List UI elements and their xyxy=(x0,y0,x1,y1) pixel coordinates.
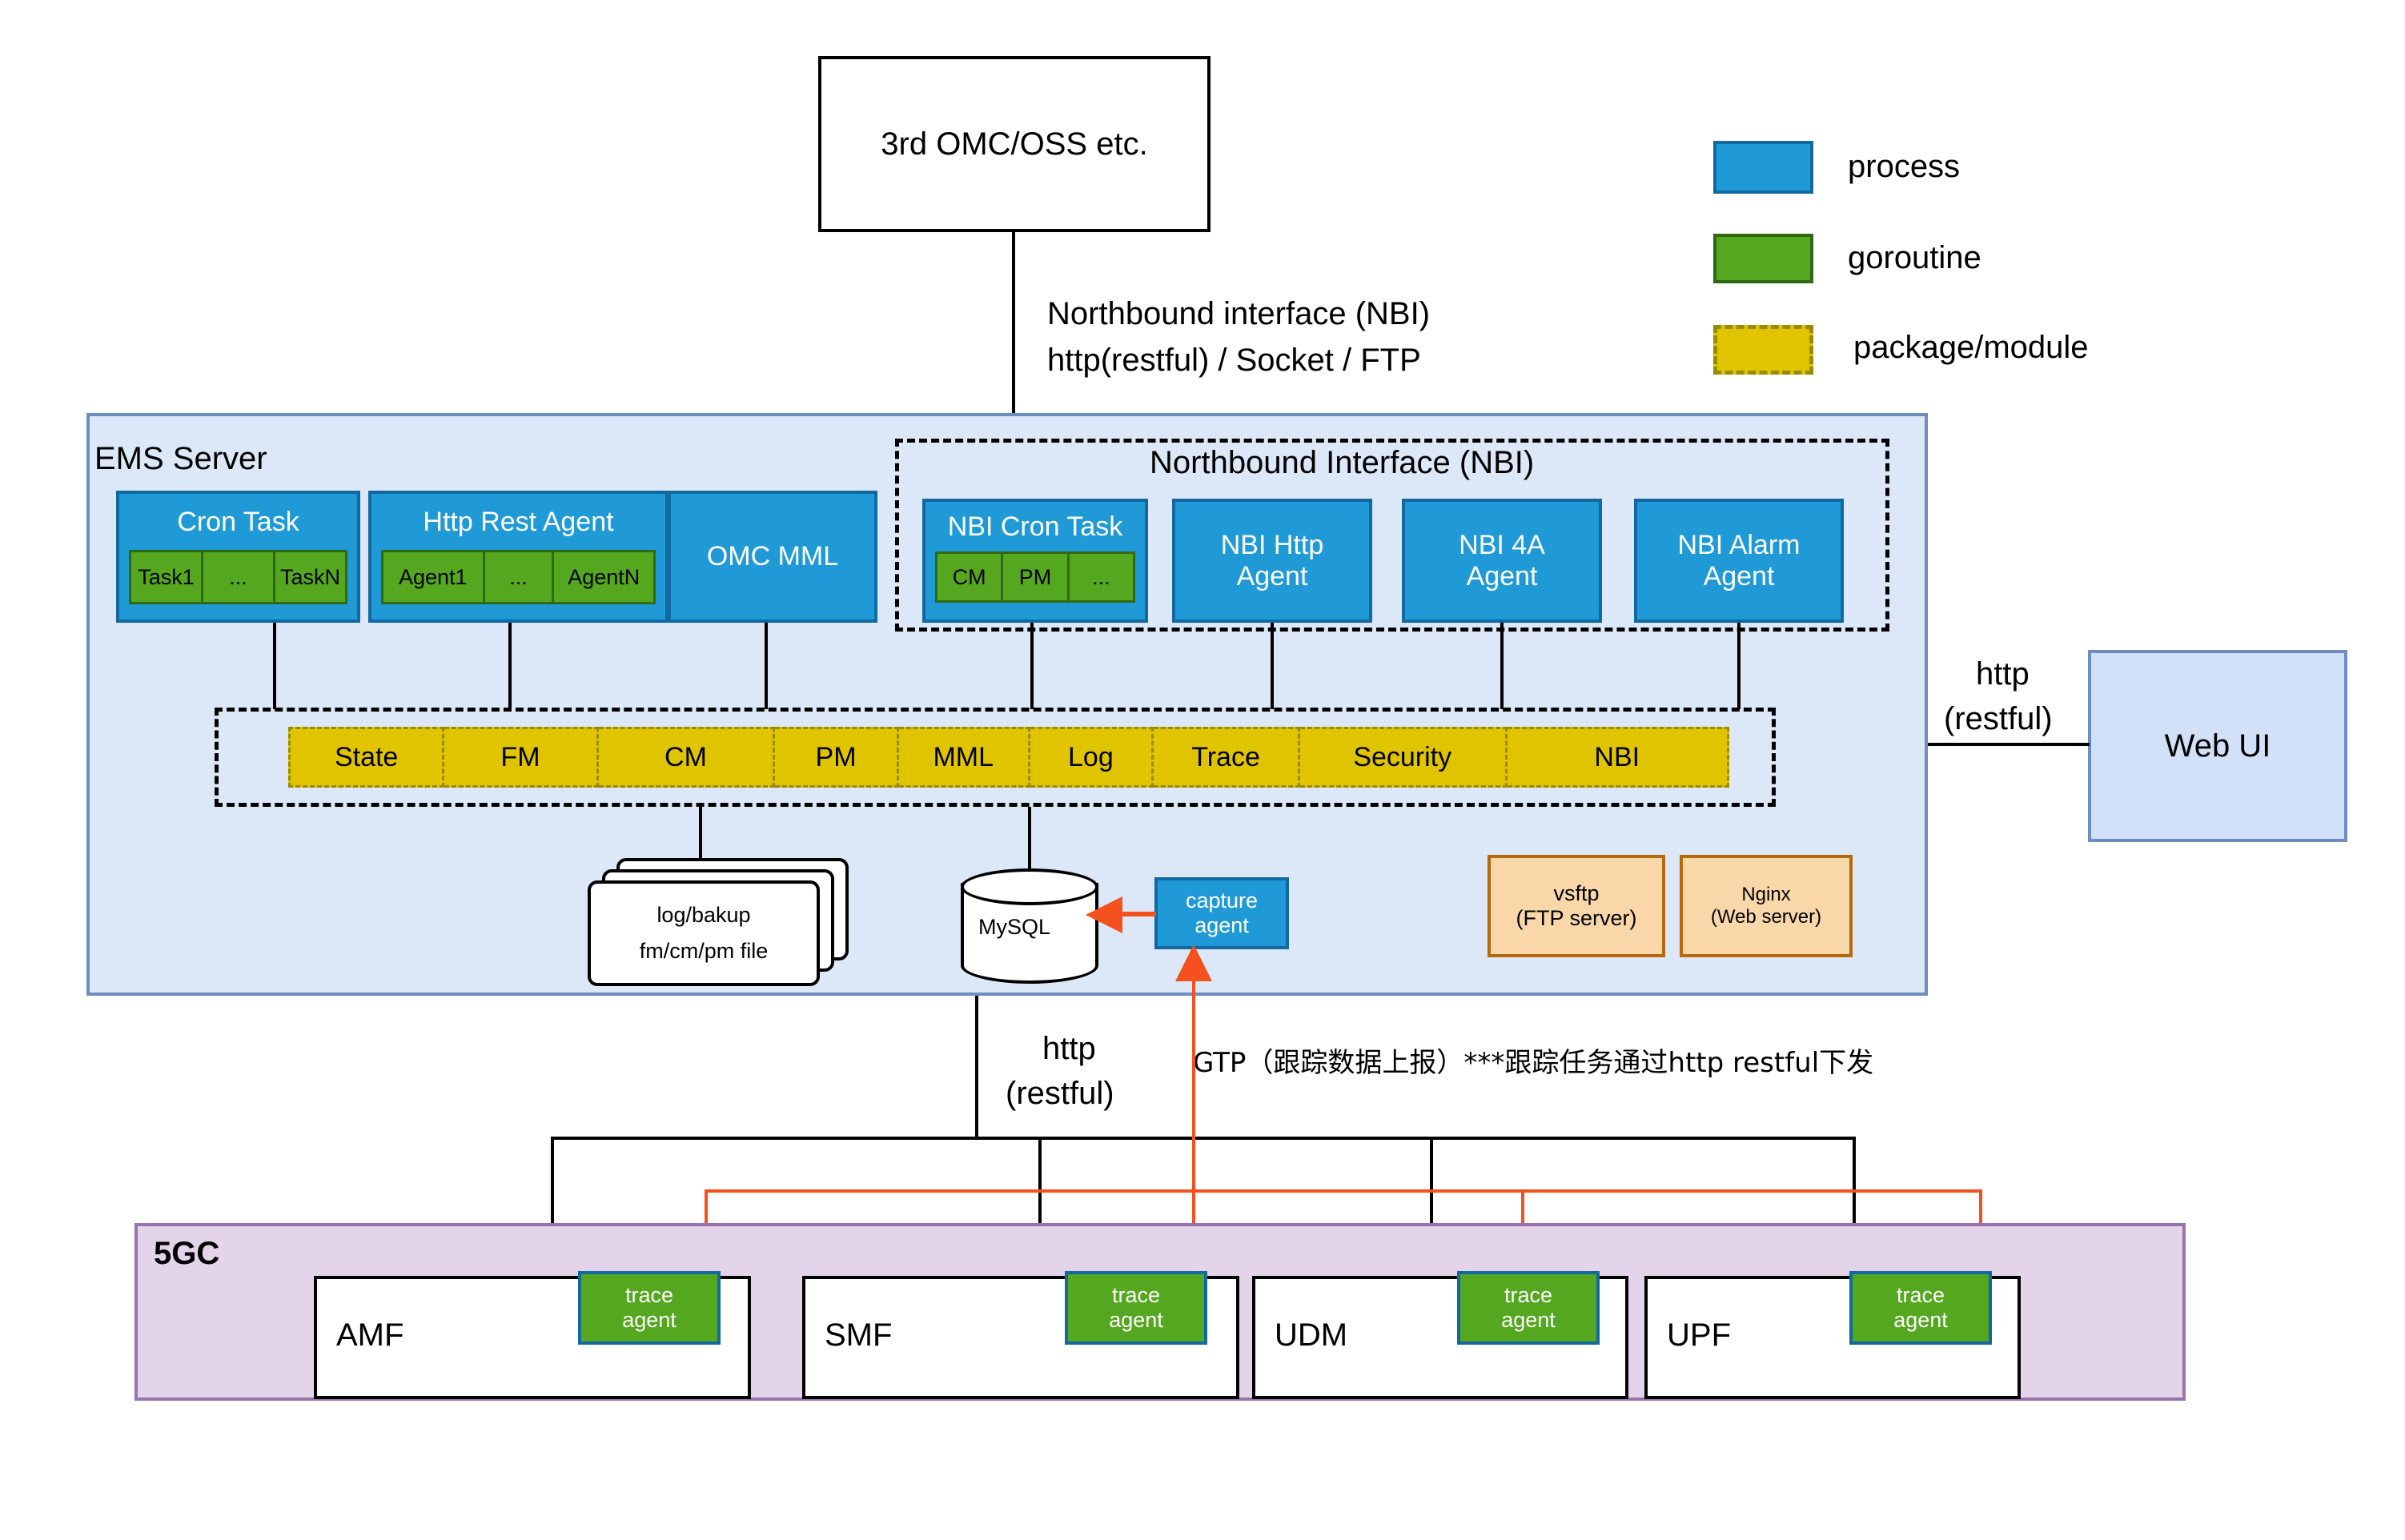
module-fm[interactable]: FM xyxy=(444,727,598,788)
modules-bar: State FM CM PM MML Log Trace Security NB… xyxy=(288,727,1729,788)
legend-label-goroutine: goroutine xyxy=(1848,240,1981,276)
http-rest-agent-to-modules-line xyxy=(508,623,512,709)
module-pm-label: PM xyxy=(816,742,857,773)
process-nbi-4a-agent-label-line1: NBI 4A xyxy=(1459,530,1545,561)
trace-agent-smf-label-line2: agent xyxy=(1109,1308,1163,1333)
goroutine-task-ellipsis[interactable]: ... xyxy=(203,550,275,604)
goroutine-taskn[interactable]: TaskN xyxy=(275,550,347,604)
ems-to-web-ui-line xyxy=(1928,743,2090,746)
process-capture-agent-label-line2: agent xyxy=(1194,913,1249,938)
log-backup-files-label-line2: fm/cm/pm file xyxy=(640,939,769,964)
module-trace[interactable]: Trace xyxy=(1154,727,1300,788)
process-capture-agent-label-line1: capture xyxy=(1186,888,1258,913)
goroutine-nbi-cm[interactable]: CM xyxy=(935,551,1003,603)
module-fm-label: FM xyxy=(500,742,540,773)
module-state[interactable]: State xyxy=(288,727,444,788)
core-node-udm-label: UDM xyxy=(1275,1317,1347,1354)
module-cm-label: CM xyxy=(664,742,707,773)
process-nbi-http-agent[interactable]: NBI Http Agent xyxy=(1172,499,1372,623)
process-omc-mml-label: OMC MML xyxy=(707,541,838,572)
process-nbi-http-agent-label-line1: NBI Http xyxy=(1221,530,1323,561)
trace-bus-horizontal xyxy=(705,1189,1982,1193)
mysql-database-label: MySQL xyxy=(978,915,1050,940)
web-ui-link-label-line1: http xyxy=(1976,656,2030,692)
web-ui-box[interactable]: Web UI xyxy=(2088,650,2347,842)
process-cron-task[interactable]: Cron Task Task1 ... TaskN xyxy=(116,491,360,623)
trace-agent-upf-label-line2: agent xyxy=(1893,1308,1948,1333)
modules-to-files-line xyxy=(699,807,702,860)
trace-agent-upf[interactable]: trace agent xyxy=(1849,1271,1992,1345)
process-capture-agent[interactable]: capture agent xyxy=(1154,877,1289,949)
goroutine-agent1-label: Agent1 xyxy=(399,565,468,590)
goroutine-taskn-label: TaskN xyxy=(280,565,340,590)
ems-server-title: EMS Server xyxy=(94,441,267,477)
module-nbi[interactable]: NBI xyxy=(1508,727,1729,788)
gtp-note-label: GTP（跟踪数据上报）***跟踪任务通过http restful下发 xyxy=(1193,1041,1873,1080)
trace-agent-amf-label-line2: agent xyxy=(622,1308,677,1333)
process-cron-task-label: Cron Task xyxy=(177,507,299,538)
module-pm[interactable]: PM xyxy=(775,727,898,788)
nbi-group-title: Northbound Interface (NBI) xyxy=(1150,445,1534,481)
trace-agent-upf-label-line1: trace xyxy=(1897,1283,1945,1308)
core-network-title: 5GC xyxy=(154,1236,219,1272)
nbi-4a-agent-to-modules-line xyxy=(1500,623,1504,709)
goroutine-nbi-pm[interactable]: PM xyxy=(1003,551,1069,603)
legend-label-process: process xyxy=(1848,149,1960,185)
module-log-label: Log xyxy=(1068,742,1114,773)
goroutine-nbi-ellipsis[interactable]: ... xyxy=(1070,551,1135,603)
goroutine-agent-ellipsis-label: ... xyxy=(509,565,528,590)
third-party-omc-box[interactable]: 3rd OMC/OSS etc. xyxy=(818,56,1211,232)
legend-swatch-module xyxy=(1713,325,1813,375)
log-backup-files-stack-front[interactable]: log/bakup fm/cm/pm file xyxy=(588,880,820,986)
trace-agent-smf[interactable]: trace agent xyxy=(1065,1271,1207,1345)
goroutine-agentn[interactable]: AgentN xyxy=(554,550,656,604)
capture-agent-to-mysql-arrowhead xyxy=(1086,895,1124,935)
nbi-link-label-line2: http(restful) / Socket / FTP xyxy=(1047,343,1421,379)
nbi-link-label-line1: Northbound interface (NBI) xyxy=(1047,296,1430,332)
web-ui-label: Web UI xyxy=(2165,728,2271,764)
module-security[interactable]: Security xyxy=(1300,727,1508,788)
module-nbi-label: NBI xyxy=(1594,742,1640,773)
process-nbi-alarm-agent-label-line1: NBI Alarm xyxy=(1677,530,1800,561)
process-nbi-cron-task[interactable]: NBI Cron Task CM PM ... xyxy=(922,499,1148,623)
ems-to-core-trunk-horizontal xyxy=(551,1137,1856,1140)
goroutine-task1-label: Task1 xyxy=(138,565,195,590)
legend-swatch-goroutine xyxy=(1713,234,1813,283)
trace-agent-udm-label-line2: agent xyxy=(1501,1308,1556,1333)
goroutine-agent-ellipsis[interactable]: ... xyxy=(485,550,555,604)
log-backup-files-label-line1: log/bakup xyxy=(656,903,750,928)
process-nbi-4a-agent-label-line2: Agent xyxy=(1467,561,1538,592)
server-nginx[interactable]: Nginx (Web server) xyxy=(1680,855,1853,957)
process-nbi-http-agent-label-line2: Agent xyxy=(1237,561,1308,592)
core-node-upf-label: UPF xyxy=(1667,1317,1731,1354)
goroutine-nbi-pm-label: PM xyxy=(1019,565,1052,590)
process-nbi-alarm-agent-label-line2: Agent xyxy=(1704,561,1775,592)
module-state-label: State xyxy=(335,742,398,773)
module-mml-label: MML xyxy=(933,742,994,773)
process-omc-mml[interactable]: OMC MML xyxy=(668,491,877,623)
module-security-label: Security xyxy=(1353,742,1451,773)
capture-agent-trunk-arrowhead xyxy=(1174,944,1214,983)
goroutine-task-ellipsis-label: ... xyxy=(229,565,247,590)
server-nginx-label-line1: Nginx xyxy=(1741,884,1790,906)
capture-agent-trunk-vertical xyxy=(1192,951,1195,1191)
process-http-rest-agent[interactable]: Http Rest Agent Agent1 ... AgentN xyxy=(368,491,669,623)
goroutine-task1[interactable]: Task1 xyxy=(129,550,203,604)
server-nginx-label-line2: (Web server) xyxy=(1711,906,1821,928)
module-trace-label: Trace xyxy=(1191,742,1260,773)
legend-swatch-process xyxy=(1713,141,1813,194)
process-nbi-4a-agent[interactable]: NBI 4A Agent xyxy=(1402,499,1602,623)
goroutine-nbi-ellipsis-label: ... xyxy=(1092,565,1110,590)
server-vsftp-label-line2: (FTP server) xyxy=(1516,906,1636,931)
trace-agent-udm[interactable]: trace agent xyxy=(1457,1271,1600,1345)
cron-task-to-modules-line xyxy=(273,623,276,709)
nbi-cron-task-to-modules-line xyxy=(1030,623,1034,709)
trace-agent-udm-label-line1: trace xyxy=(1504,1283,1552,1308)
omc-mml-to-modules-line xyxy=(765,623,768,709)
trace-agent-amf-label-line1: trace xyxy=(625,1283,673,1308)
trace-agent-amf[interactable]: trace agent xyxy=(578,1271,721,1345)
legend-label-module: package/module xyxy=(1853,330,2089,366)
nbi-alarm-agent-to-modules-line xyxy=(1737,623,1741,709)
module-mml[interactable]: MML xyxy=(899,727,1030,788)
goroutine-agentn-label: AgentN xyxy=(568,565,640,590)
process-nbi-alarm-agent[interactable]: NBI Alarm Agent xyxy=(1634,499,1844,623)
server-vsftp-label-line1: vsftp xyxy=(1553,881,1599,906)
process-nbi-cron-task-label: NBI Cron Task xyxy=(948,511,1123,543)
capture-agent-to-mysql-line xyxy=(1119,912,1156,916)
legend: process goroutine package/module xyxy=(1713,136,2210,384)
mysql-database-cylinder-top xyxy=(961,868,1098,905)
nbi-http-agent-to-modules-line xyxy=(1271,623,1274,709)
goroutine-nbi-cm-label: CM xyxy=(953,565,986,590)
ems-to-core-trunk-vertical xyxy=(975,996,978,1140)
process-http-rest-agent-label: Http Rest Agent xyxy=(423,507,613,538)
southbound-http-label-line2: (restful) xyxy=(1006,1076,1114,1112)
goroutine-agent1[interactable]: Agent1 xyxy=(381,550,485,604)
core-node-smf-label: SMF xyxy=(825,1317,892,1354)
trace-agent-smf-label-line1: trace xyxy=(1112,1283,1160,1308)
module-cm[interactable]: CM xyxy=(599,727,776,788)
third-party-omc-label: 3rd OMC/OSS etc. xyxy=(881,126,1147,162)
core-node-amf-label: AMF xyxy=(336,1317,404,1354)
modules-to-database-line xyxy=(1028,807,1031,874)
server-vsftp[interactable]: vsftp (FTP server) xyxy=(1488,855,1665,957)
web-ui-link-label-line2: (restful) xyxy=(1944,701,2053,737)
southbound-http-label-line1: http xyxy=(1042,1031,1096,1067)
module-log[interactable]: Log xyxy=(1030,727,1154,788)
